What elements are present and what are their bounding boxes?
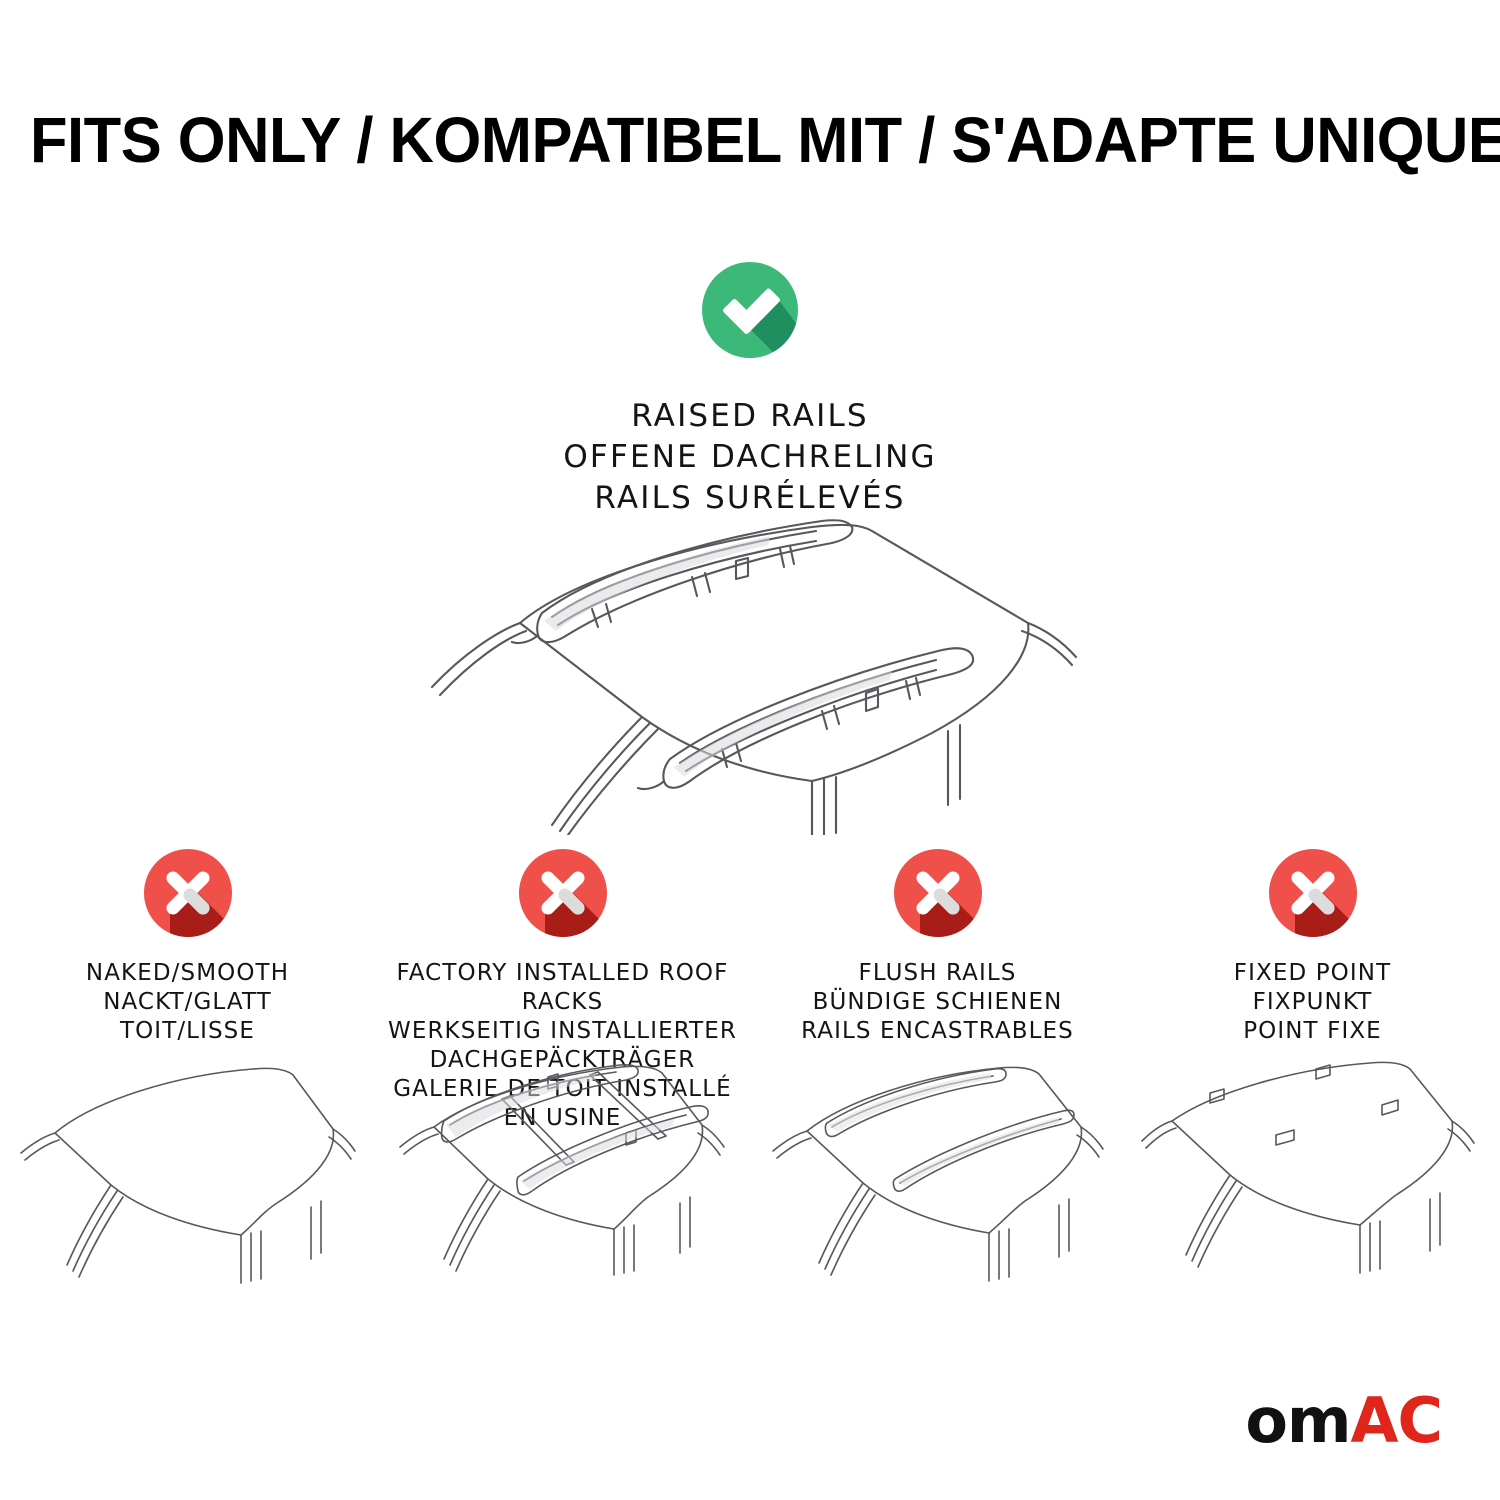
car-roof-fixed-point-illustration <box>1125 1055 1500 1315</box>
incompatible-label-flush-rails: FLUSH RAILS BÜNDIGE SCHIENEN RAILS ENCAS… <box>801 959 1074 1046</box>
incompatible-illustrations <box>0 1055 1500 1315</box>
compatible-section: RAISED RAILS OFFENE DACHRELING RAILS SUR… <box>0 258 1500 519</box>
cross-circle-icon <box>515 845 611 941</box>
car-roof-flush-rails-illustration <box>750 1055 1125 1315</box>
compatible-label: RAISED RAILS OFFENE DACHRELING RAILS SUR… <box>0 396 1500 519</box>
incompatible-label-naked-smooth: NAKED/SMOOTH NACKT/GLATT TOIT/LISSE <box>86 959 289 1046</box>
cross-circle-icon <box>1265 845 1361 941</box>
incompatible-label-fixed-point: FIXED POINT FIXPUNKT POINT FIXE <box>1234 959 1391 1046</box>
car-roof-factory-racks-illustration <box>375 1055 750 1315</box>
compatible-label-en: RAISED RAILS <box>0 396 1500 437</box>
car-roof-naked-smooth-illustration <box>0 1055 375 1315</box>
logo-text-ac: AC <box>1351 1390 1442 1452</box>
omac-logo: omAC <box>1245 1390 1442 1452</box>
cross-circle-icon <box>890 845 986 941</box>
cross-circle-icon <box>140 845 236 941</box>
car-roof-raised-rails-illustration <box>392 505 1108 835</box>
logo-text-om: om <box>1245 1390 1350 1452</box>
check-circle-icon <box>698 258 802 362</box>
compatible-label-de: OFFENE DACHRELING <box>0 437 1500 478</box>
page-title: FITS ONLY / KOMPATIBEL MIT / S'ADAPTE UN… <box>30 104 1470 176</box>
